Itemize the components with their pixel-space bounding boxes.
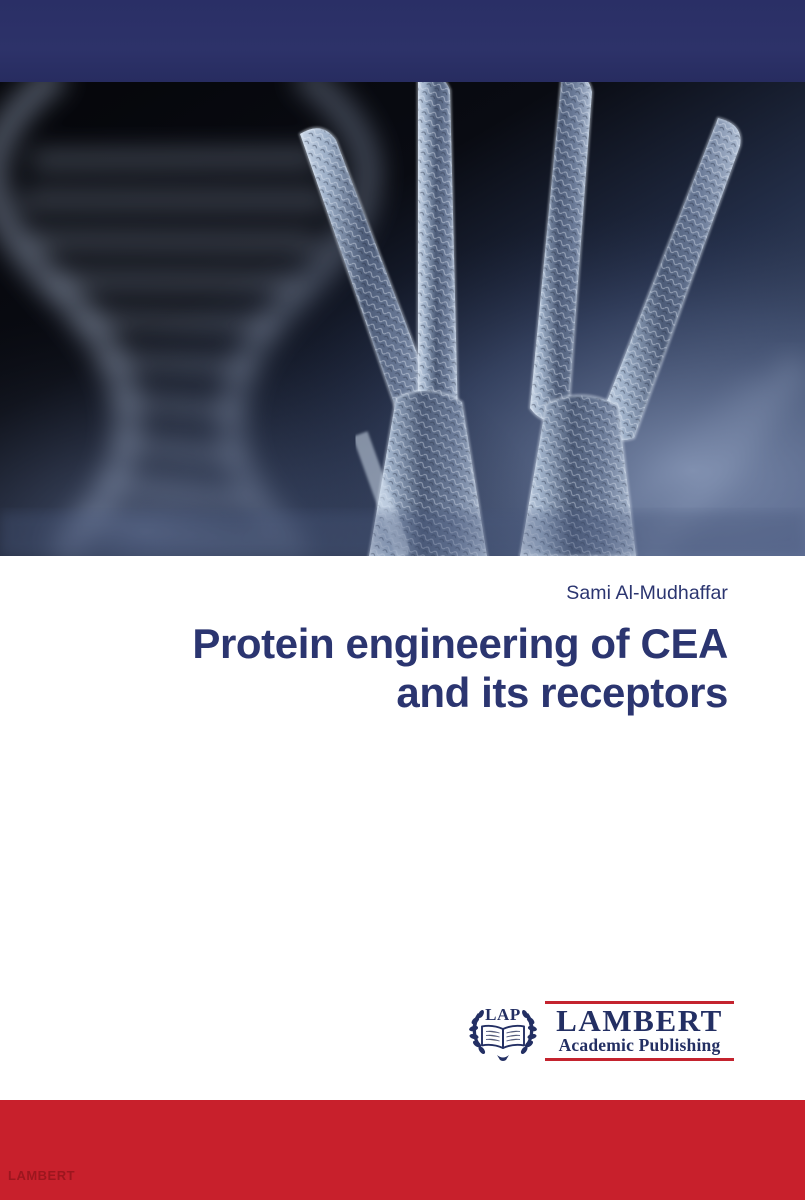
- svg-text:LAP: LAP: [485, 1005, 521, 1024]
- footer-watermark: LAMBERT: [8, 1168, 75, 1183]
- cover-text-area: Sami Al-Mudhaffar Protein engineering of…: [0, 556, 805, 1100]
- publisher-name: LAMBERT: [545, 1005, 734, 1036]
- bottom-red-band: LAMBERT: [0, 1100, 805, 1200]
- book-title-line-2: and its receptors: [396, 669, 728, 716]
- book-cover: Sami Al-Mudhaffar Protein engineering of…: [0, 0, 805, 1200]
- open-book-laurel-icon: LAP: [466, 1000, 540, 1062]
- chromosome-illustration: [0, 82, 805, 556]
- book-title-line-1: Protein engineering of CEA: [192, 620, 728, 667]
- lap-emblem-svg: LAP: [466, 1000, 540, 1062]
- publisher-wordmark: LAMBERT Academic Publishing: [545, 1001, 734, 1061]
- publisher-logo: LAP: [466, 1000, 734, 1062]
- publisher-tagline: Academic Publishing: [545, 1036, 734, 1055]
- author-name: Sami Al-Mudhaffar: [566, 582, 728, 605]
- logo-rule-bottom: [545, 1058, 734, 1061]
- top-navy-band: [0, 0, 805, 82]
- cover-photo: [0, 82, 805, 556]
- book-title: Protein engineering of CEA and its recep…: [88, 619, 728, 717]
